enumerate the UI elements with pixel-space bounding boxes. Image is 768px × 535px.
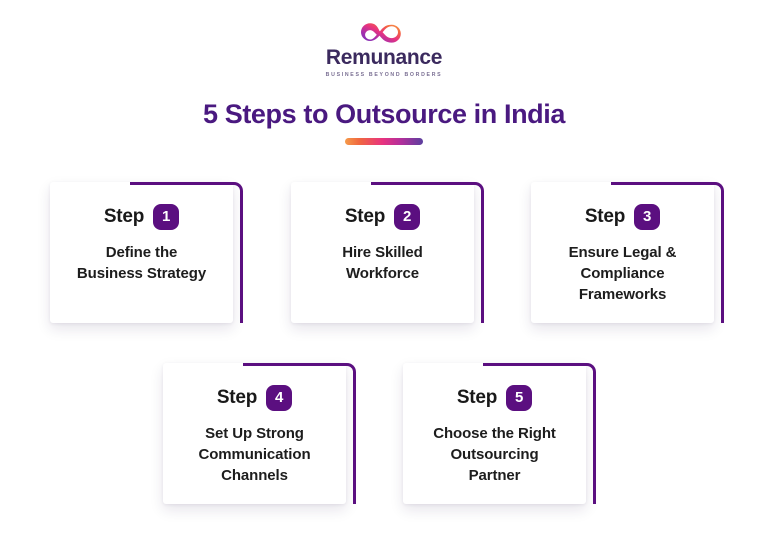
step-heading: Step 2 xyxy=(345,204,420,230)
step-label: Step xyxy=(457,387,497,409)
step-description: Choose the Right Outsourcing Partner xyxy=(433,423,556,486)
step-description: Set Up Strong Communication Channels xyxy=(198,423,310,486)
step-description: Hire Skilled Workforce xyxy=(342,242,423,284)
step-number-badge: 1 xyxy=(153,204,179,230)
step-heading: Step 4 xyxy=(217,385,292,411)
step-description: Define the Business Strategy xyxy=(77,242,206,284)
step-number-badge: 2 xyxy=(394,204,420,230)
step-number-badge: 4 xyxy=(266,385,292,411)
step-card-content: Step 5 Choose the Right Outsourcing Part… xyxy=(403,363,586,504)
step-heading: Step 3 xyxy=(585,204,660,230)
step-label: Step xyxy=(585,206,625,228)
step-card-content: Step 2 Hire Skilled Workforce xyxy=(291,182,474,323)
step-card-content: Step 3 Ensure Legal & Compliance Framewo… xyxy=(531,182,714,323)
step-card-5[interactable]: Step 5 Choose the Right Outsourcing Part… xyxy=(403,363,586,504)
step-card-2[interactable]: Step 2 Hire Skilled Workforce xyxy=(291,182,474,323)
step-card-1[interactable]: Step 1 Define the Business Strategy xyxy=(50,182,233,323)
step-label: Step xyxy=(345,206,385,228)
step-card-content: Step 1 Define the Business Strategy xyxy=(50,182,233,323)
step-description: Ensure Legal & Compliance Frameworks xyxy=(569,242,677,305)
steps-grid: Step 1 Define the Business Strategy Step… xyxy=(0,0,768,535)
step-heading: Step 1 xyxy=(104,204,179,230)
step-card-4[interactable]: Step 4 Set Up Strong Communication Chann… xyxy=(163,363,346,504)
infographic-page: Remunance Business Beyond Borders 5 Step… xyxy=(0,0,768,535)
step-number-badge: 3 xyxy=(634,204,660,230)
step-number-badge: 5 xyxy=(506,385,532,411)
step-heading: Step 5 xyxy=(457,385,532,411)
step-label: Step xyxy=(217,387,257,409)
step-label: Step xyxy=(104,206,144,228)
step-card-content: Step 4 Set Up Strong Communication Chann… xyxy=(163,363,346,504)
step-card-3[interactable]: Step 3 Ensure Legal & Compliance Framewo… xyxy=(531,182,714,323)
